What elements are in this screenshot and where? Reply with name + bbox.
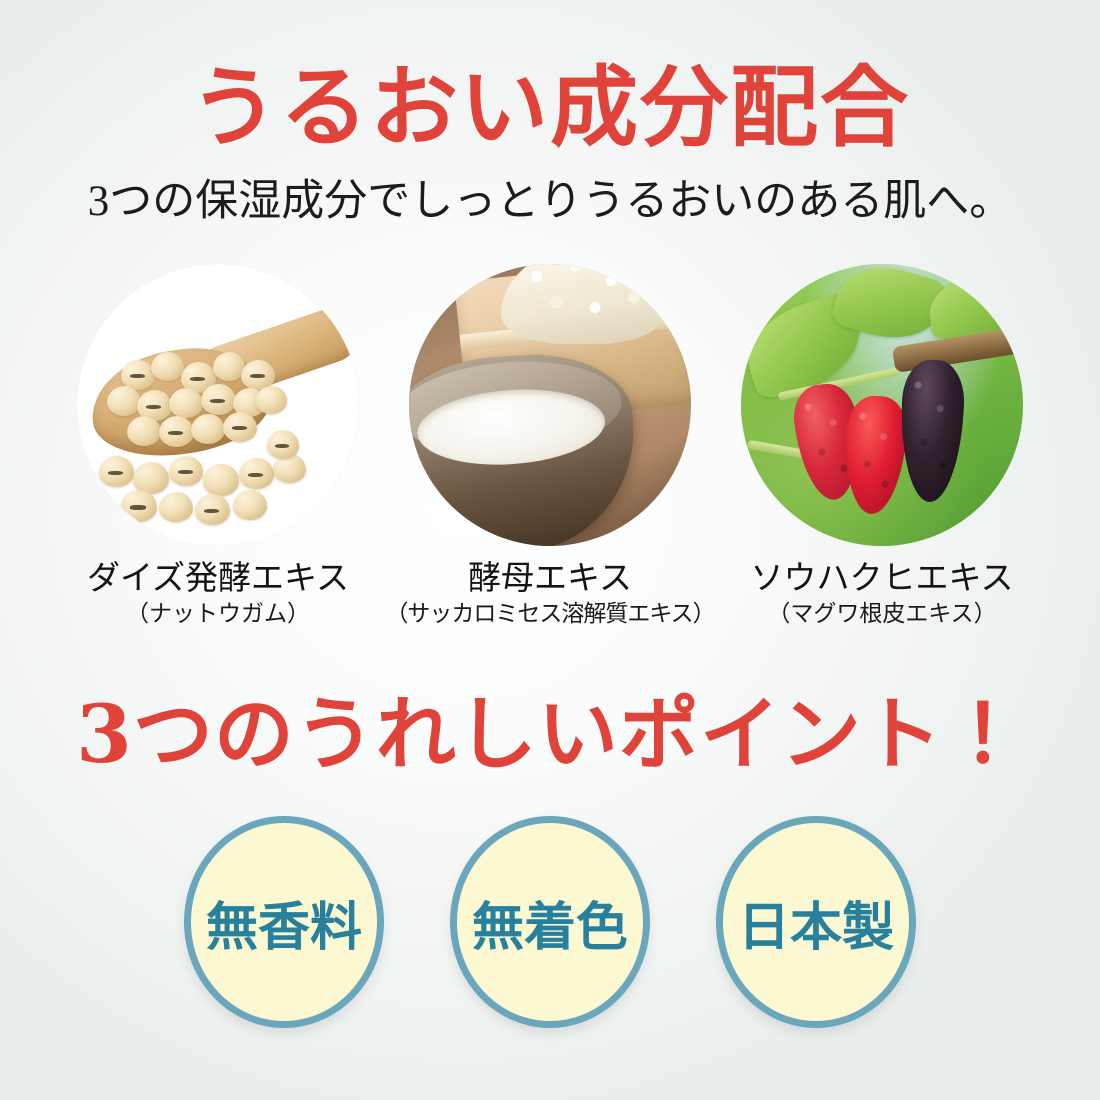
promo-banner: うるおい成分配合 3つの保湿成分でしっとりうるおいのある肌へ。 (0, 0, 1100, 1100)
ingredient-subname: （マグワ根皮エキス） (767, 600, 996, 626)
badge-list: 無香料 無着色 日本製 (0, 816, 1100, 1028)
soybean (195, 494, 230, 525)
ingredient-name: ダイズ発酵エキス (87, 560, 349, 598)
ingredient-item-soy: ダイズ発酵エキス （ナットウガム） (74, 264, 362, 627)
ingredient-name: 酵母エキス (468, 560, 632, 598)
badge-colorant-free: 無着色 (450, 816, 650, 1028)
soybean (121, 490, 157, 522)
ingredient-subname: （サッカロミセス溶解質エキス） (385, 600, 714, 626)
badge-label: 無香料 (206, 885, 362, 960)
soybean (159, 416, 194, 447)
soybean (151, 352, 184, 381)
soybean (169, 456, 203, 486)
soybean (191, 414, 225, 444)
soybean (233, 490, 267, 520)
ingredient-list: ダイズ発酵エキス （ナットウガム） 酵母エキス （サッカロミセス溶解質エキス） (0, 264, 1100, 627)
soybean (127, 416, 161, 446)
soybean (267, 430, 299, 459)
soybean (201, 384, 236, 415)
badge-label: 日本製 (738, 885, 894, 960)
badge-label: 無着色 (472, 885, 628, 960)
soybean (99, 456, 134, 487)
ingredient-name: ソウハクヒエキス (750, 560, 1013, 598)
rice-koji-bowl-photo (409, 264, 691, 546)
page-subtitle: 3つの保湿成分でしっとりうるおいのある肌へ。 (0, 178, 1100, 225)
soybean (255, 386, 287, 414)
badge-fragrance-free: 無香料 (184, 816, 384, 1028)
page-title: うるおい成分配合 (0, 62, 1100, 154)
ingredient-item-yeast: 酵母エキス （サッカロミセス溶解質エキス） (406, 264, 694, 627)
soybean (239, 458, 274, 489)
soybean (223, 412, 257, 442)
soybean (107, 386, 141, 416)
mulberry-branch-photo (741, 264, 1023, 546)
ingredient-subname: （ナットウガム） (126, 600, 310, 626)
soybean (203, 464, 239, 496)
ingredient-item-mulberry: ソウハクヒエキス （マグワ根皮エキス） (738, 264, 1026, 627)
soybean (169, 388, 203, 418)
points-heading: 3つのうれしいポイント！ (0, 692, 1100, 776)
soybeans-on-wooden-spoon-photo (77, 264, 359, 546)
badge-made-in-japan: 日本製 (716, 816, 916, 1028)
soybean (159, 492, 193, 522)
rice-grains-pile (501, 264, 663, 344)
